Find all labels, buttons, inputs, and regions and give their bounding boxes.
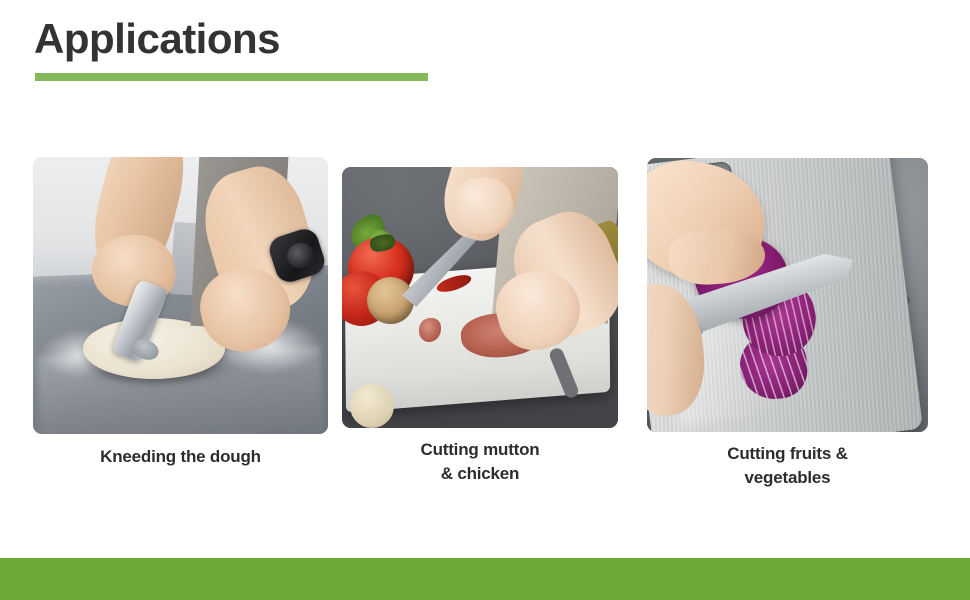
footer-accent-bar xyxy=(0,558,970,600)
page-title: Applications xyxy=(34,14,280,64)
caption-line: Cutting fruits & xyxy=(647,442,928,466)
card-caption-cutting-fruits-vegetables: Cutting fruits & vegetables xyxy=(647,442,928,490)
caption-line: Cutting mutton xyxy=(342,438,618,462)
caption-line: vegetables xyxy=(647,466,928,490)
title-underline-rule xyxy=(35,73,428,81)
card-caption-cutting-mutton-chicken: Cutting mutton & chicken xyxy=(342,438,618,486)
caption-line: & chicken xyxy=(342,462,618,486)
onion-shape xyxy=(367,277,414,324)
application-card-cutting-mutton-chicken: Cutting mutton & chicken xyxy=(342,150,618,486)
egg-shape xyxy=(350,384,394,428)
photo-cutting-mutton-chicken xyxy=(342,167,618,428)
photo-cutting-fruits-vegetables xyxy=(647,158,928,432)
applications-slide: Applications xyxy=(0,0,970,600)
application-card-kneading-the-dough: Kneeding the dough xyxy=(33,150,328,469)
photo-kneading-the-dough xyxy=(33,157,328,434)
applications-card-row: Kneeding the dough xyxy=(0,150,970,495)
card-caption-kneading-the-dough: Kneeding the dough xyxy=(33,445,328,469)
application-card-cutting-fruits-vegetables: Cutting fruits & vegetables xyxy=(647,150,928,490)
caption-line: Kneeding the dough xyxy=(33,445,328,469)
